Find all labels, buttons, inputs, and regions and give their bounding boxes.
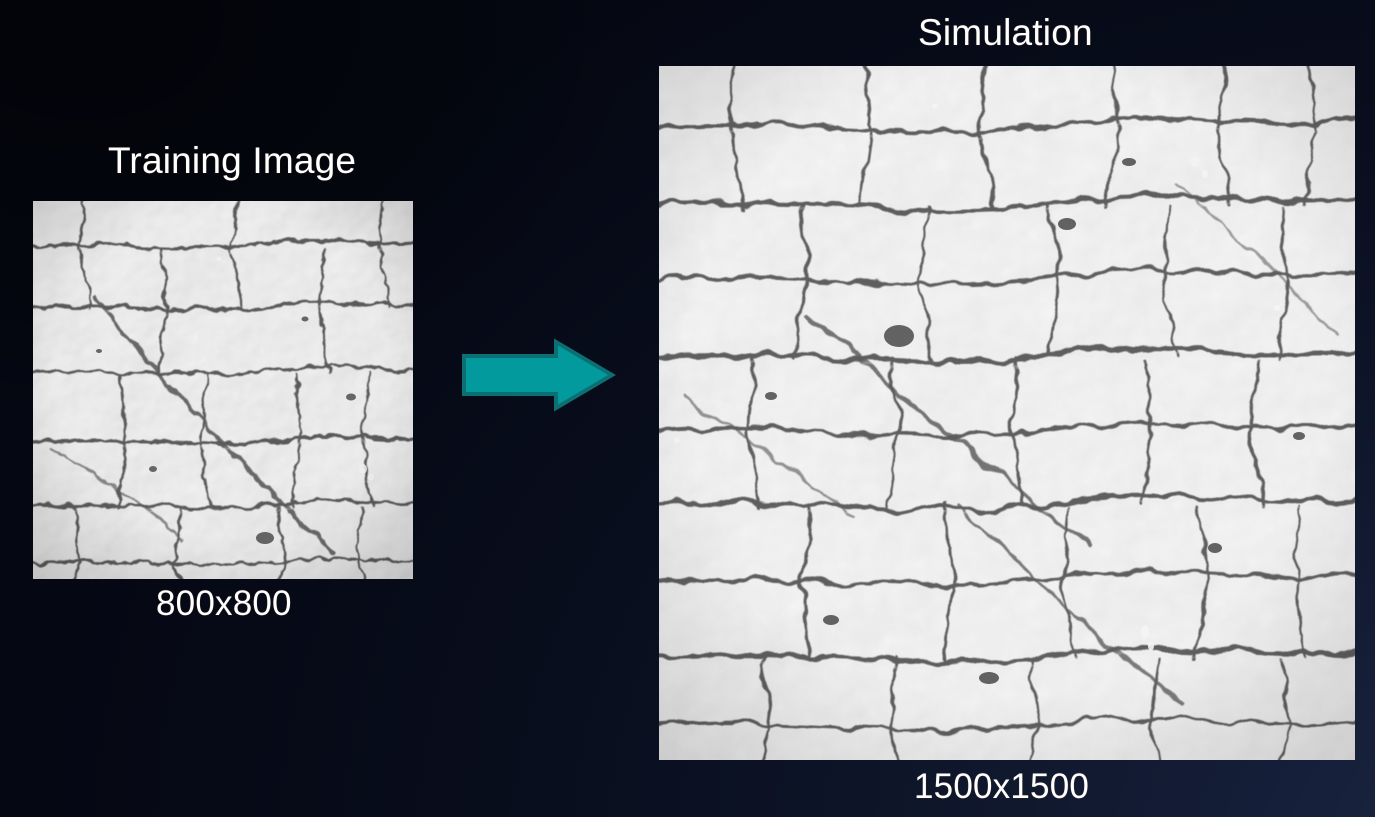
simulation-image — [659, 66, 1355, 760]
simulation-image-size-label: 1500x1500 — [914, 769, 1089, 804]
training-image-title: Training Image — [108, 142, 356, 179]
simulation-title: Simulation — [918, 14, 1093, 51]
training-image — [33, 201, 413, 579]
slide-canvas: Training Image — [0, 0, 1375, 817]
training-image-size-label: 800x800 — [156, 586, 292, 621]
right-arrow-icon — [458, 336, 618, 414]
